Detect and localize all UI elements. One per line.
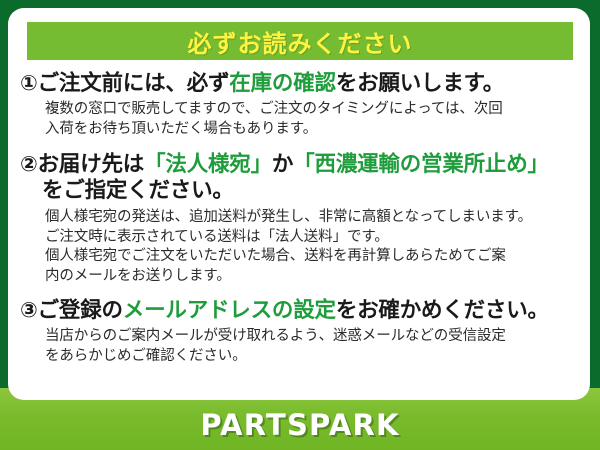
item-2-heading-pre: お届け先は bbox=[38, 152, 145, 177]
item-1-heading-pre: ご注文前には、必ず bbox=[38, 71, 230, 96]
item-3-heading-highlight: メールアドレスの設定 bbox=[123, 298, 336, 323]
notice-card: 必ずお読みください ①ご注文前には、必ず在庫の確認をお願いします。 複数の窓口で… bbox=[8, 8, 590, 400]
header-banner: 必ずお読みください bbox=[27, 22, 573, 60]
item-1-number: ① bbox=[20, 71, 38, 95]
item-1-subtext-line-1: 複数の窓口で販売してますので、ご注文のタイミングによっては、次回 bbox=[45, 100, 580, 120]
item-3-subtext-line-2: をあらかじめご確認ください。 bbox=[45, 347, 580, 367]
item-1-subtext: 複数の窓口で販売してますので、ご注文のタイミングによっては、次回 入荷をお待ち頂… bbox=[20, 100, 580, 139]
item-3-subtext-line-1: 当店からのご案内メールが受け取れるよう、迷惑メールなどの受信設定 bbox=[45, 327, 580, 347]
notice-item-3: ③ご登録のメールアドレスの設定をお確かめください。 当店からのご案内メールが受け… bbox=[20, 297, 580, 366]
notice-item-2: ②お届け先は「法人様宛」か「西濃運輸の営業所止め」をご指定ください。 個人様宅宛… bbox=[20, 151, 580, 286]
item-2-subtext: 個人様宅宛の発送は、追加送料が発生し、非常に高額となってしまいます。 ご注文時に… bbox=[20, 208, 580, 286]
item-1-heading-highlight: 在庫の確認 bbox=[229, 71, 336, 96]
page-title: 必ずお読みください bbox=[188, 24, 413, 59]
item-2-heading-post: をご指定ください。 bbox=[20, 178, 580, 204]
item-1-heading-post: をお願いします。 bbox=[336, 71, 504, 96]
notice-body: ①ご注文前には、必ず在庫の確認をお願いします。 複数の窓口で販売してますので、ご… bbox=[8, 68, 590, 400]
item-2-heading: ②お届け先は「法人様宛」か「西濃運輸の営業所止め」をご指定ください。 bbox=[20, 151, 580, 204]
item-2-number: ② bbox=[20, 152, 38, 176]
item-2-subtext-line-2: ご注文時に表示されている送料は「法人送料」です。 bbox=[45, 228, 580, 248]
notice-item-1: ①ご注文前には、必ず在庫の確認をお願いします。 複数の窓口で販売してますので、ご… bbox=[20, 70, 580, 139]
notice-poster: 必ずお読みください ①ご注文前には、必ず在庫の確認をお願いします。 複数の窓口で… bbox=[0, 0, 600, 450]
item-1-subtext-line-2: 入荷をお待ち頂いただく場合もあります。 bbox=[45, 120, 580, 140]
item-3-number: ③ bbox=[20, 298, 38, 322]
item-3-heading: ③ご登録のメールアドレスの設定をお確かめください。 bbox=[20, 297, 580, 324]
item-2-subtext-line-3: 個人様宅宛でご注文をいただいた場合、送料を再計算しあらためてご案 bbox=[45, 247, 580, 267]
item-2-heading-highlight: 「法人様宛」 bbox=[144, 152, 272, 177]
item-3-heading-post: をお確かめください。 bbox=[336, 298, 549, 323]
item-2-subtext-line-1: 個人様宅宛の発送は、追加送料が発生し、非常に高額となってしまいます。 bbox=[45, 208, 580, 228]
item-3-heading-pre: ご登録の bbox=[38, 298, 123, 323]
item-1-heading: ①ご注文前には、必ず在庫の確認をお願いします。 bbox=[20, 70, 580, 97]
item-2-subtext-line-4: 内のメールをお送りします。 bbox=[45, 267, 580, 287]
item-3-subtext: 当店からのご案内メールが受け取れるよう、迷惑メールなどの受信設定 をあらかじめご… bbox=[20, 327, 580, 366]
item-2-heading-mid: か bbox=[272, 152, 293, 177]
item-2-heading-highlight-2: 「西濃運輸の営業所止め」 bbox=[293, 152, 549, 177]
brand-logo-text: PARTSPARK bbox=[0, 408, 600, 442]
